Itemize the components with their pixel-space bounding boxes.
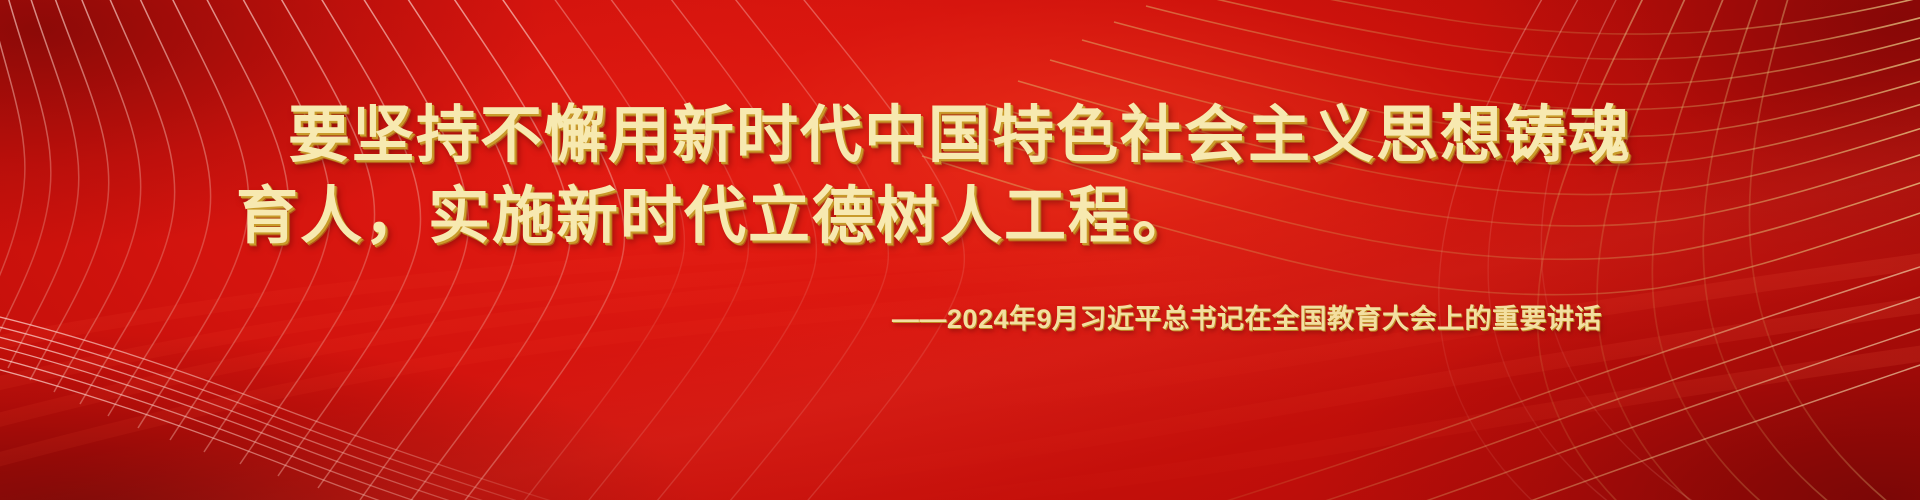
attribution-source: ——2024年9月习近平总书记在全国教育大会上的重要讲话	[230, 297, 1690, 336]
headline-line-1: 要坚持不懈用新时代中国特色社会主义思想铸魂	[288, 101, 1632, 170]
headline: 要坚持不懈用新时代中国特色社会主义思想铸魂 育人，实施新时代立德树人工程。	[230, 96, 1690, 257]
banner-text-layer: 要坚持不懈用新时代中国特色社会主义思想铸魂 育人，实施新时代立德树人工程。 ——…	[0, 0, 1920, 500]
propaganda-banner: 要坚持不懈用新时代中国特色社会主义思想铸魂 育人，实施新时代立德树人工程。 ——…	[0, 0, 1920, 500]
headline-line-2: 育人，实施新时代立德树人工程。	[230, 177, 1690, 258]
